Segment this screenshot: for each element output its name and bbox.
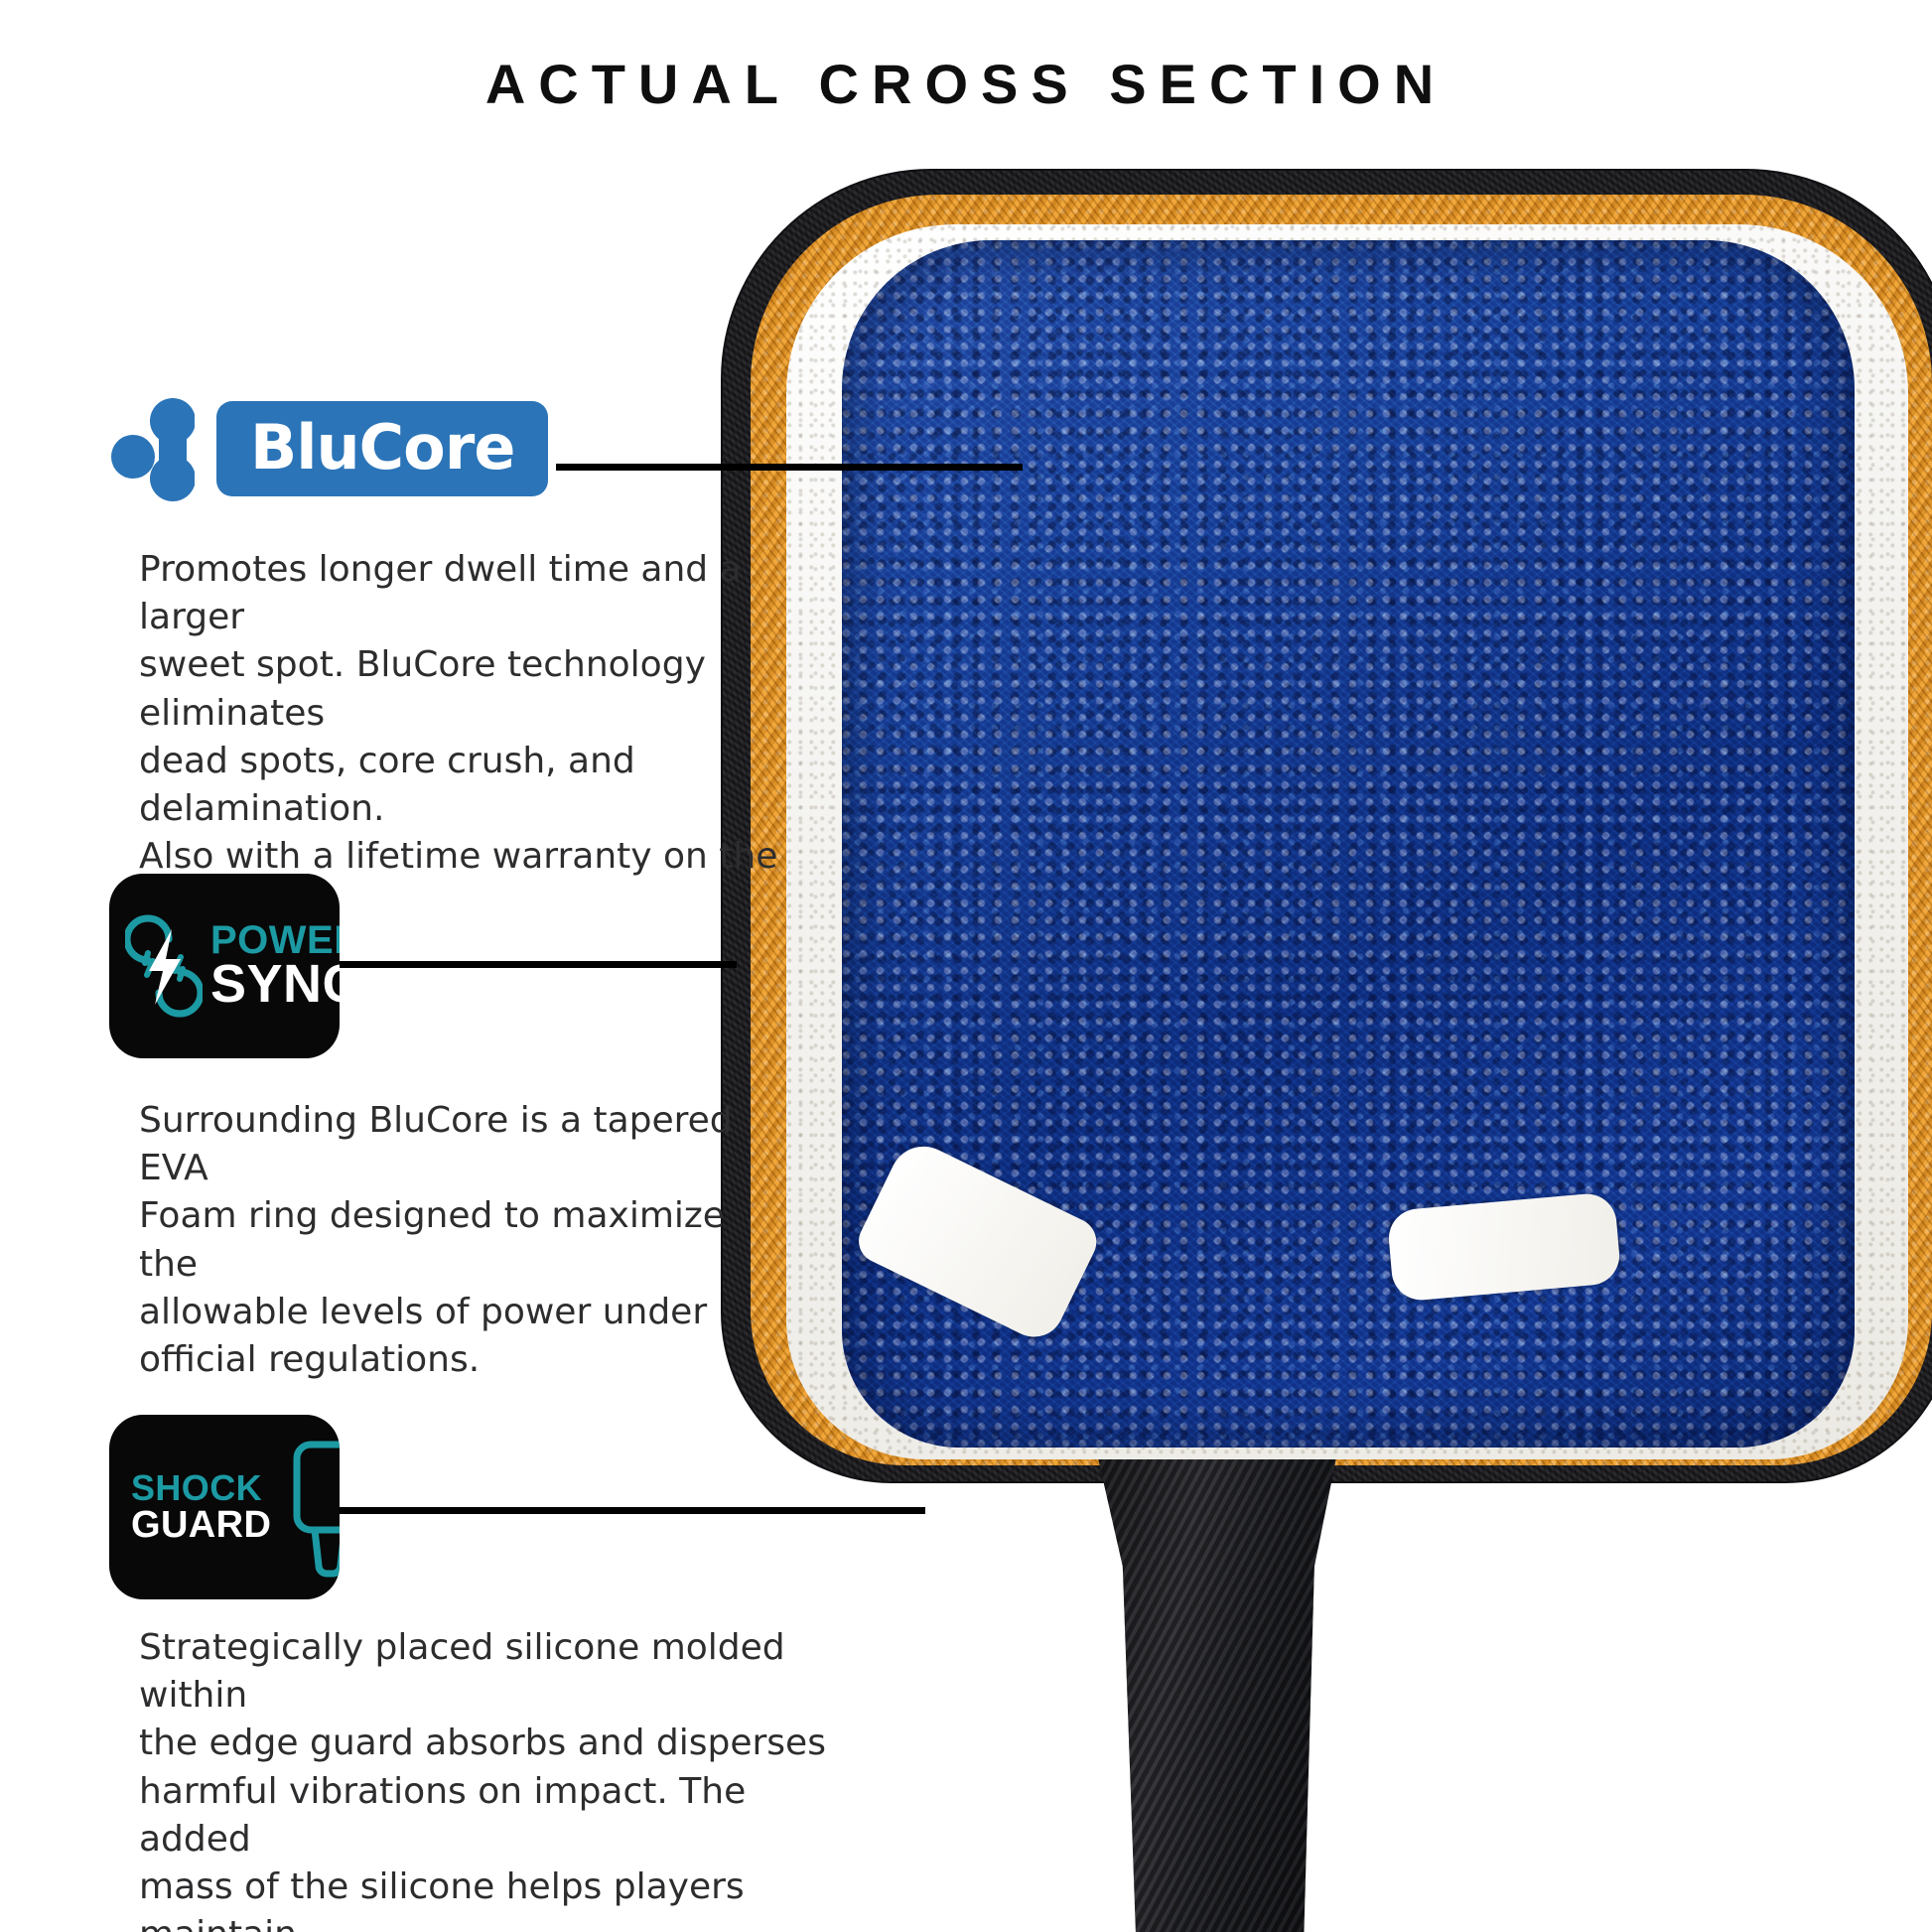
shock-guard-label-top: SHOCK <box>131 1470 271 1506</box>
badge-blucore[interactable]: BluCore <box>109 395 548 502</box>
leader-line-blucore <box>556 464 1023 471</box>
badge-shock-guard[interactable]: SHOCK GUARD <box>109 1415 340 1599</box>
blucore-description: Promotes longer dwell time and a larger … <box>139 546 834 929</box>
infinity-lightning-icon <box>125 901 203 1031</box>
page-title: ACTUAL CROSS SECTION <box>0 54 1932 115</box>
leader-line-shock-guard <box>340 1507 925 1514</box>
power-sync-description: Surrounding BluCore is a tapered EVA Foa… <box>139 1097 794 1384</box>
blucore-molecule-icon <box>109 395 195 502</box>
badge-power-sync[interactable]: POWER SYNC <box>109 874 340 1058</box>
paddle-lightning-icon <box>281 1433 340 1582</box>
pickleball-paddle-cross-section-photo <box>695 149 1932 1932</box>
leader-line-power-sync <box>340 961 737 968</box>
blucore-label: BluCore <box>250 417 514 479</box>
power-sync-label-bottom: SYNC <box>210 959 340 1009</box>
blucore-pill: BluCore <box>216 401 548 496</box>
shock-guard-description: Strategically placed silicone molded wit… <box>139 1624 854 1932</box>
infographic-canvas: ACTUAL CROSS SECTION BluCore Promotes lo… <box>0 0 1932 1932</box>
shock-guard-label-bottom: GUARD <box>131 1506 271 1544</box>
paddle-handle-grip <box>1082 1459 1352 1932</box>
